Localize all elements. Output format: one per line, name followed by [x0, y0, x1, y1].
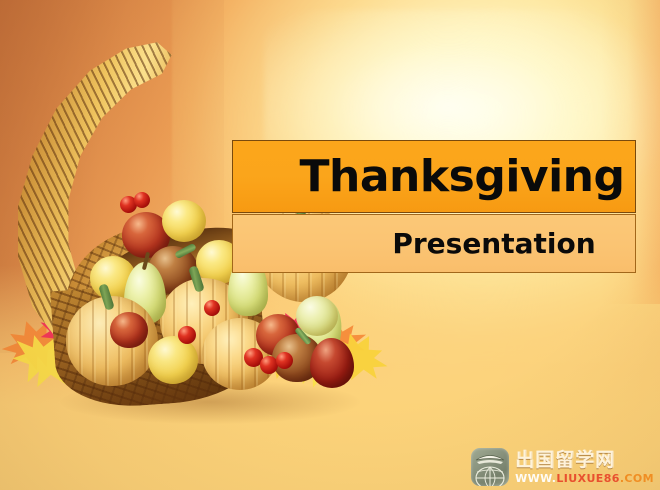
slide-subtitle: Presentation: [272, 230, 595, 258]
watermark-url: WWW.LIUXUE86.COM: [515, 473, 654, 484]
watermark-site-name: 出国留学网: [515, 451, 654, 470]
watermark-url-tld: .COM: [620, 472, 654, 485]
watermark-text: 出国留学网 WWW.LIUXUE86.COM: [515, 451, 654, 484]
title-bar: Thanksgiving: [232, 140, 636, 213]
watermark-url-www: WWW.: [515, 472, 556, 485]
thanksgiving-title-slide: Thanksgiving Presentation 出国留学网 WWW.LIUX…: [0, 0, 660, 490]
watermark-url-brand: LIUXUE86: [556, 472, 619, 485]
subtitle-bar: Presentation: [232, 214, 636, 273]
site-watermark[interactable]: 出国留学网 WWW.LIUXUE86.COM: [471, 448, 654, 486]
globe-arch-icon: [471, 448, 509, 486]
slide-title: Thanksgiving: [244, 155, 625, 199]
